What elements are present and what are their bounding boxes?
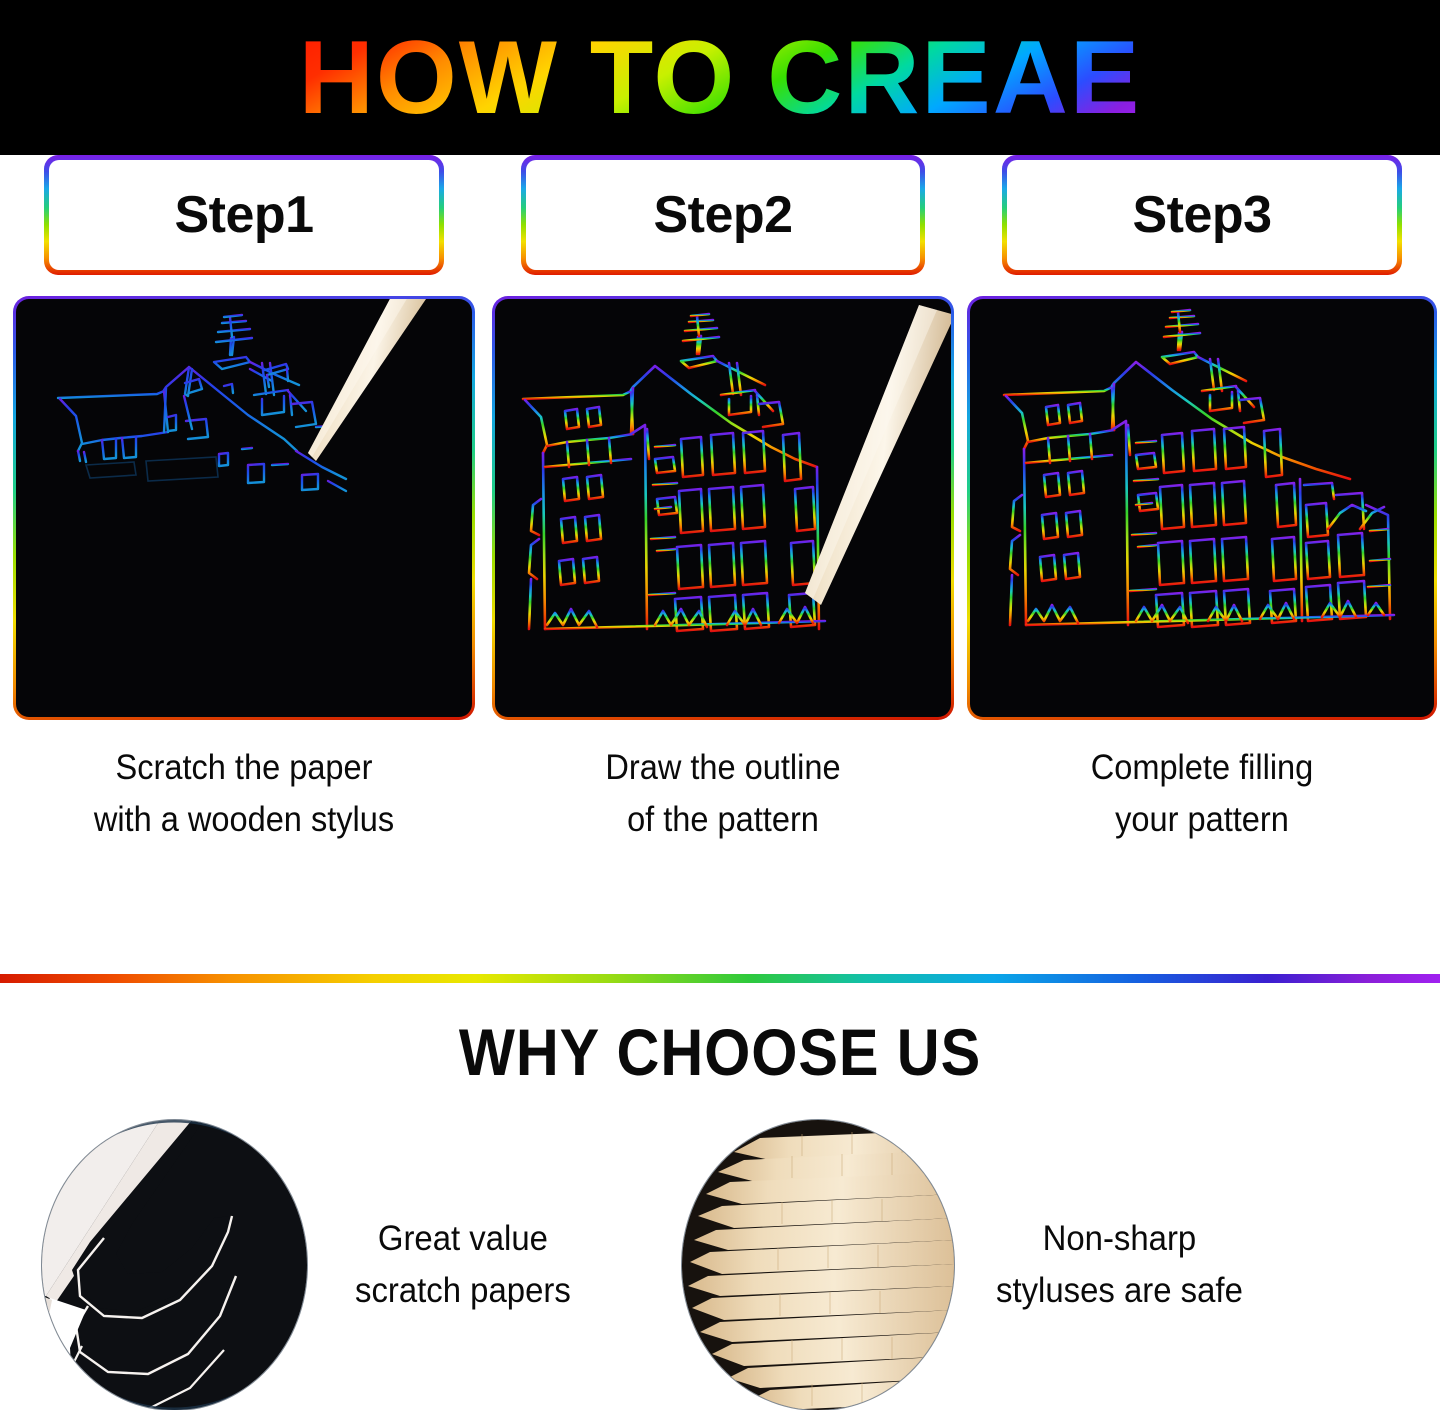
step-caption-1-line2: with a wooden stylus [26, 794, 461, 846]
features-section: Great value scratch papers [0, 1120, 1440, 1409]
feature-scratch-papers-line2: scratch papers [355, 1265, 571, 1318]
feature-styluses-text: Non-sharp styluses are safe [996, 1213, 1243, 1318]
steps-section: Step1 [0, 155, 1440, 955]
step-caption-3: Complete filling your pattern [983, 742, 1420, 846]
step-card-3: Step3 [967, 155, 1437, 846]
step-badge-label-2: Step2 [653, 185, 792, 245]
page-title: HOW TO CREAE [299, 26, 1142, 130]
feature-scratch-papers-line1: Great value [355, 1213, 571, 1266]
step-art-panel-2 [492, 296, 954, 720]
step-caption-3-line1: Complete filling [983, 742, 1420, 794]
step-badge-3: Step3 [1002, 155, 1402, 275]
feature-styluses-line1: Non-sharp [996, 1213, 1243, 1266]
feature-scratch-papers: Great value scratch papers [42, 1120, 585, 1410]
step-caption-1-line1: Scratch the paper [26, 742, 461, 794]
feature-styluses: Non-sharp styluses are safe [682, 1120, 1259, 1410]
wooden-styluses-image [682, 1120, 954, 1410]
why-choose-us-heading: WHY CHOOSE US [72, 1014, 1368, 1090]
step-card-1: Step1 [10, 155, 478, 846]
header-band: HOW TO CREAE [0, 0, 1440, 155]
step-caption-1: Scratch the paper with a wooden stylus [26, 742, 461, 846]
scratch-canvas-1 [16, 299, 472, 717]
feature-styluses-line2: styluses are safe [996, 1265, 1243, 1318]
scratch-paper-stack-image [42, 1120, 307, 1410]
step-badge-2: Step2 [521, 155, 925, 275]
scratch-drawing-complete-icon [970, 299, 1434, 717]
scratch-canvas-3 [970, 299, 1434, 717]
step-caption-2: Draw the outline of the pattern [508, 742, 938, 846]
scratch-paper-icon [42, 1120, 307, 1410]
step-caption-3-line2: your pattern [983, 794, 1420, 846]
step-badge-label-3: Step3 [1132, 185, 1271, 245]
step-card-2: Step2 [492, 155, 954, 846]
step-caption-2-line1: Draw the outline [508, 742, 938, 794]
wooden-stylus-icon [274, 299, 426, 467]
step-art-panel-1 [13, 296, 475, 720]
step-badge-1: Step1 [44, 155, 444, 275]
feature-scratch-papers-text: Great value scratch papers [355, 1213, 571, 1318]
wooden-sticks-icon [682, 1120, 954, 1410]
step-art-panel-3 [967, 296, 1437, 720]
rainbow-divider [0, 974, 1440, 983]
step-caption-2-line2: of the pattern [508, 794, 938, 846]
wooden-stylus-icon [791, 305, 951, 635]
scratch-canvas-2 [495, 299, 951, 717]
step-badge-label-1: Step1 [174, 185, 313, 245]
